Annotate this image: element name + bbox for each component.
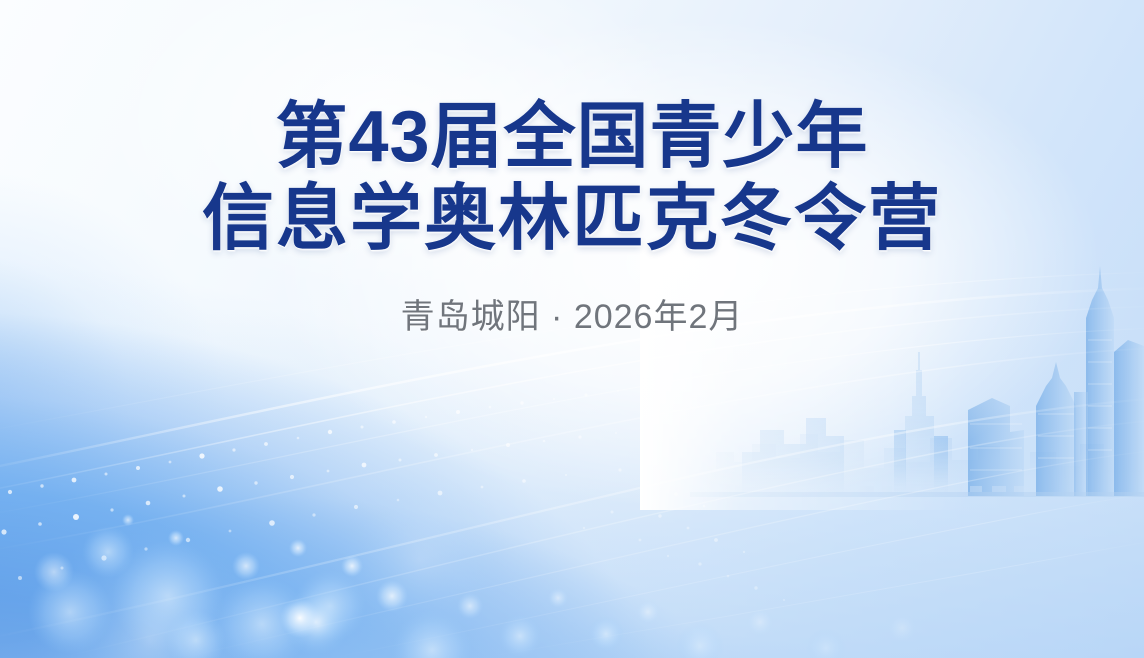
- poster-subtitle: 青岛城阳 · 2026年2月: [0, 296, 1144, 338]
- poster-headline: 第43届全国青少年 信息学奥林匹克冬令营: [0, 96, 1144, 260]
- title-line-2: 信息学奥林匹克冬令营: [0, 178, 1144, 260]
- event-poster: 第43届全国青少年 信息学奥林匹克冬令营 青岛城阳 · 2026年2月: [0, 0, 1144, 658]
- title-line-1: 第43届全国青少年: [0, 96, 1144, 178]
